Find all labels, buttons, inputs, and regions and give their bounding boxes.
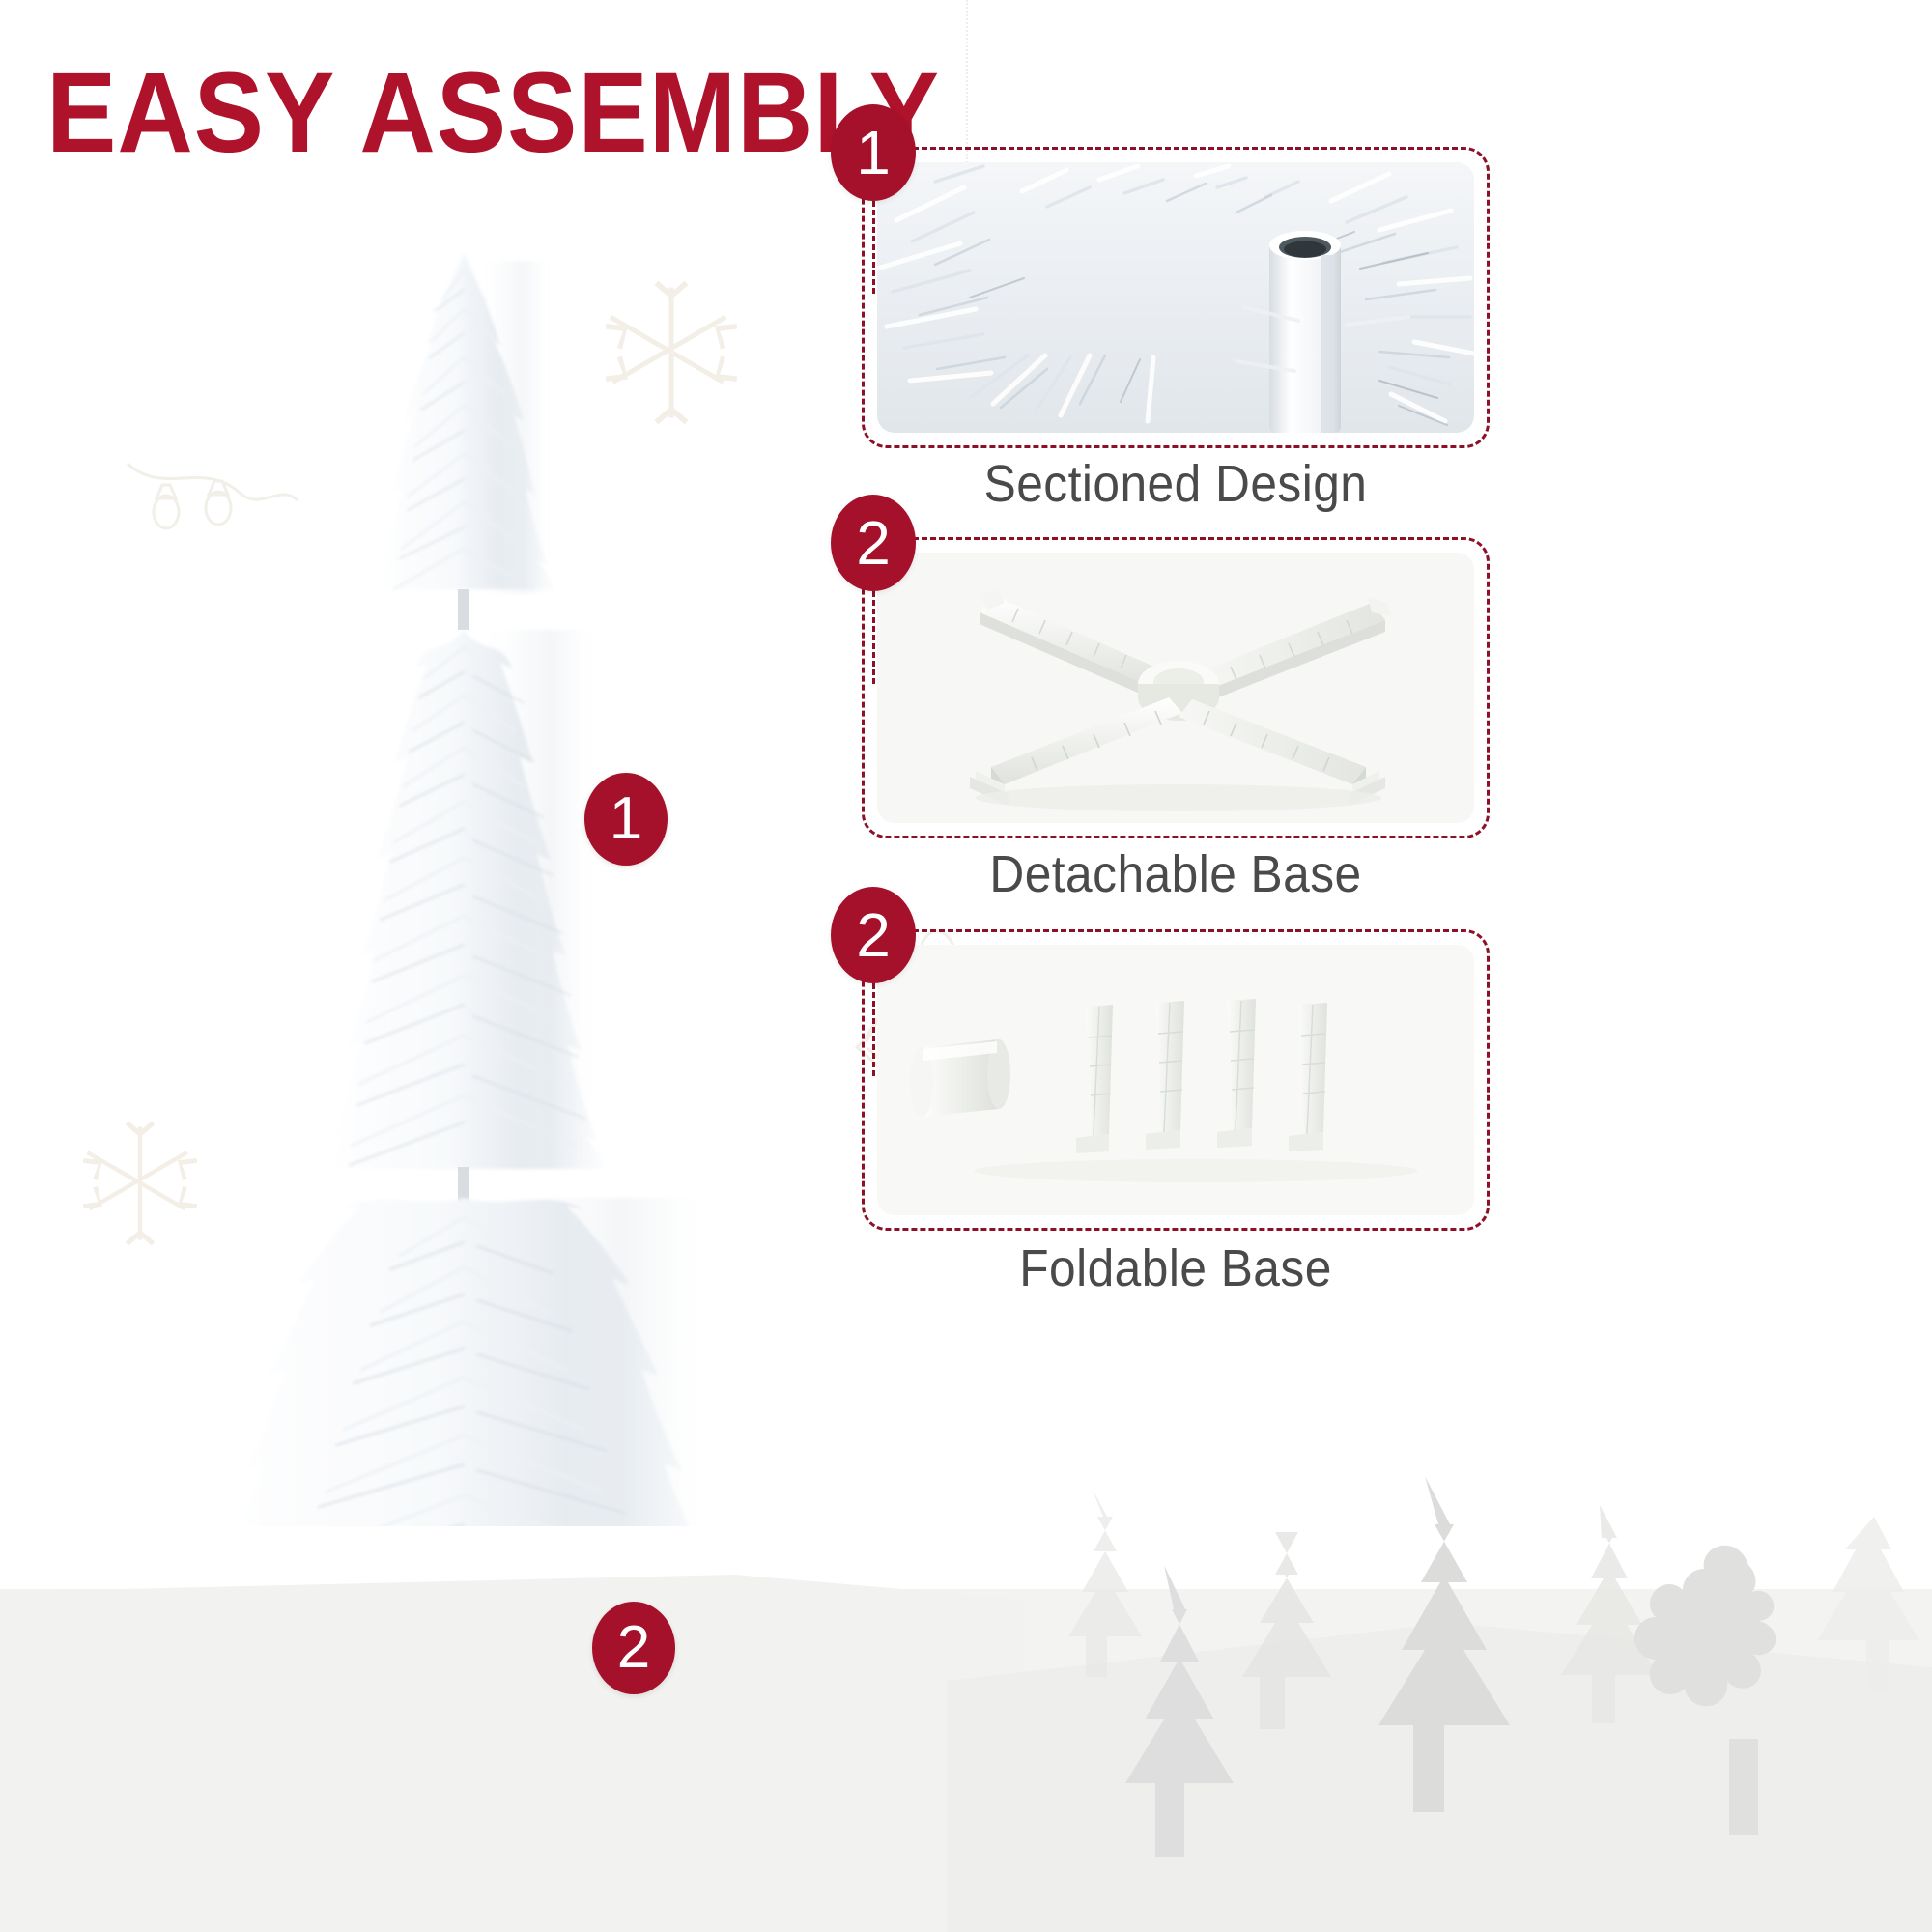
- badge-connector-line: [872, 983, 875, 1076]
- infographic-canvas: EASY ASSEMBLY: [0, 0, 1932, 1932]
- panel-badge-1: 1: [831, 104, 916, 201]
- badge-connector-line: [872, 591, 875, 684]
- caption-sectioned-design: Sectioned Design: [887, 454, 1464, 514]
- photo-sectioned-design: [877, 162, 1474, 433]
- product-badge-1: 1: [584, 773, 668, 866]
- panel-badge-2: 2: [831, 495, 916, 591]
- badge-connector-line: [872, 201, 875, 294]
- page-title: EASY ASSEMBLY: [46, 56, 940, 170]
- photo-detachable-base: [877, 553, 1474, 823]
- photo-foldable-base: [877, 945, 1474, 1215]
- caption-foldable-base: Foldable Base: [887, 1238, 1464, 1298]
- caption-detachable-base: Detachable Base: [887, 844, 1464, 904]
- product-image-white-pencil-christmas-tree: 1 2: [145, 193, 763, 1526]
- product-badge-2: 2: [592, 1602, 675, 1694]
- feature-panels: 1: [831, 0, 1932, 1932]
- panel-badge-3: 2: [831, 887, 916, 983]
